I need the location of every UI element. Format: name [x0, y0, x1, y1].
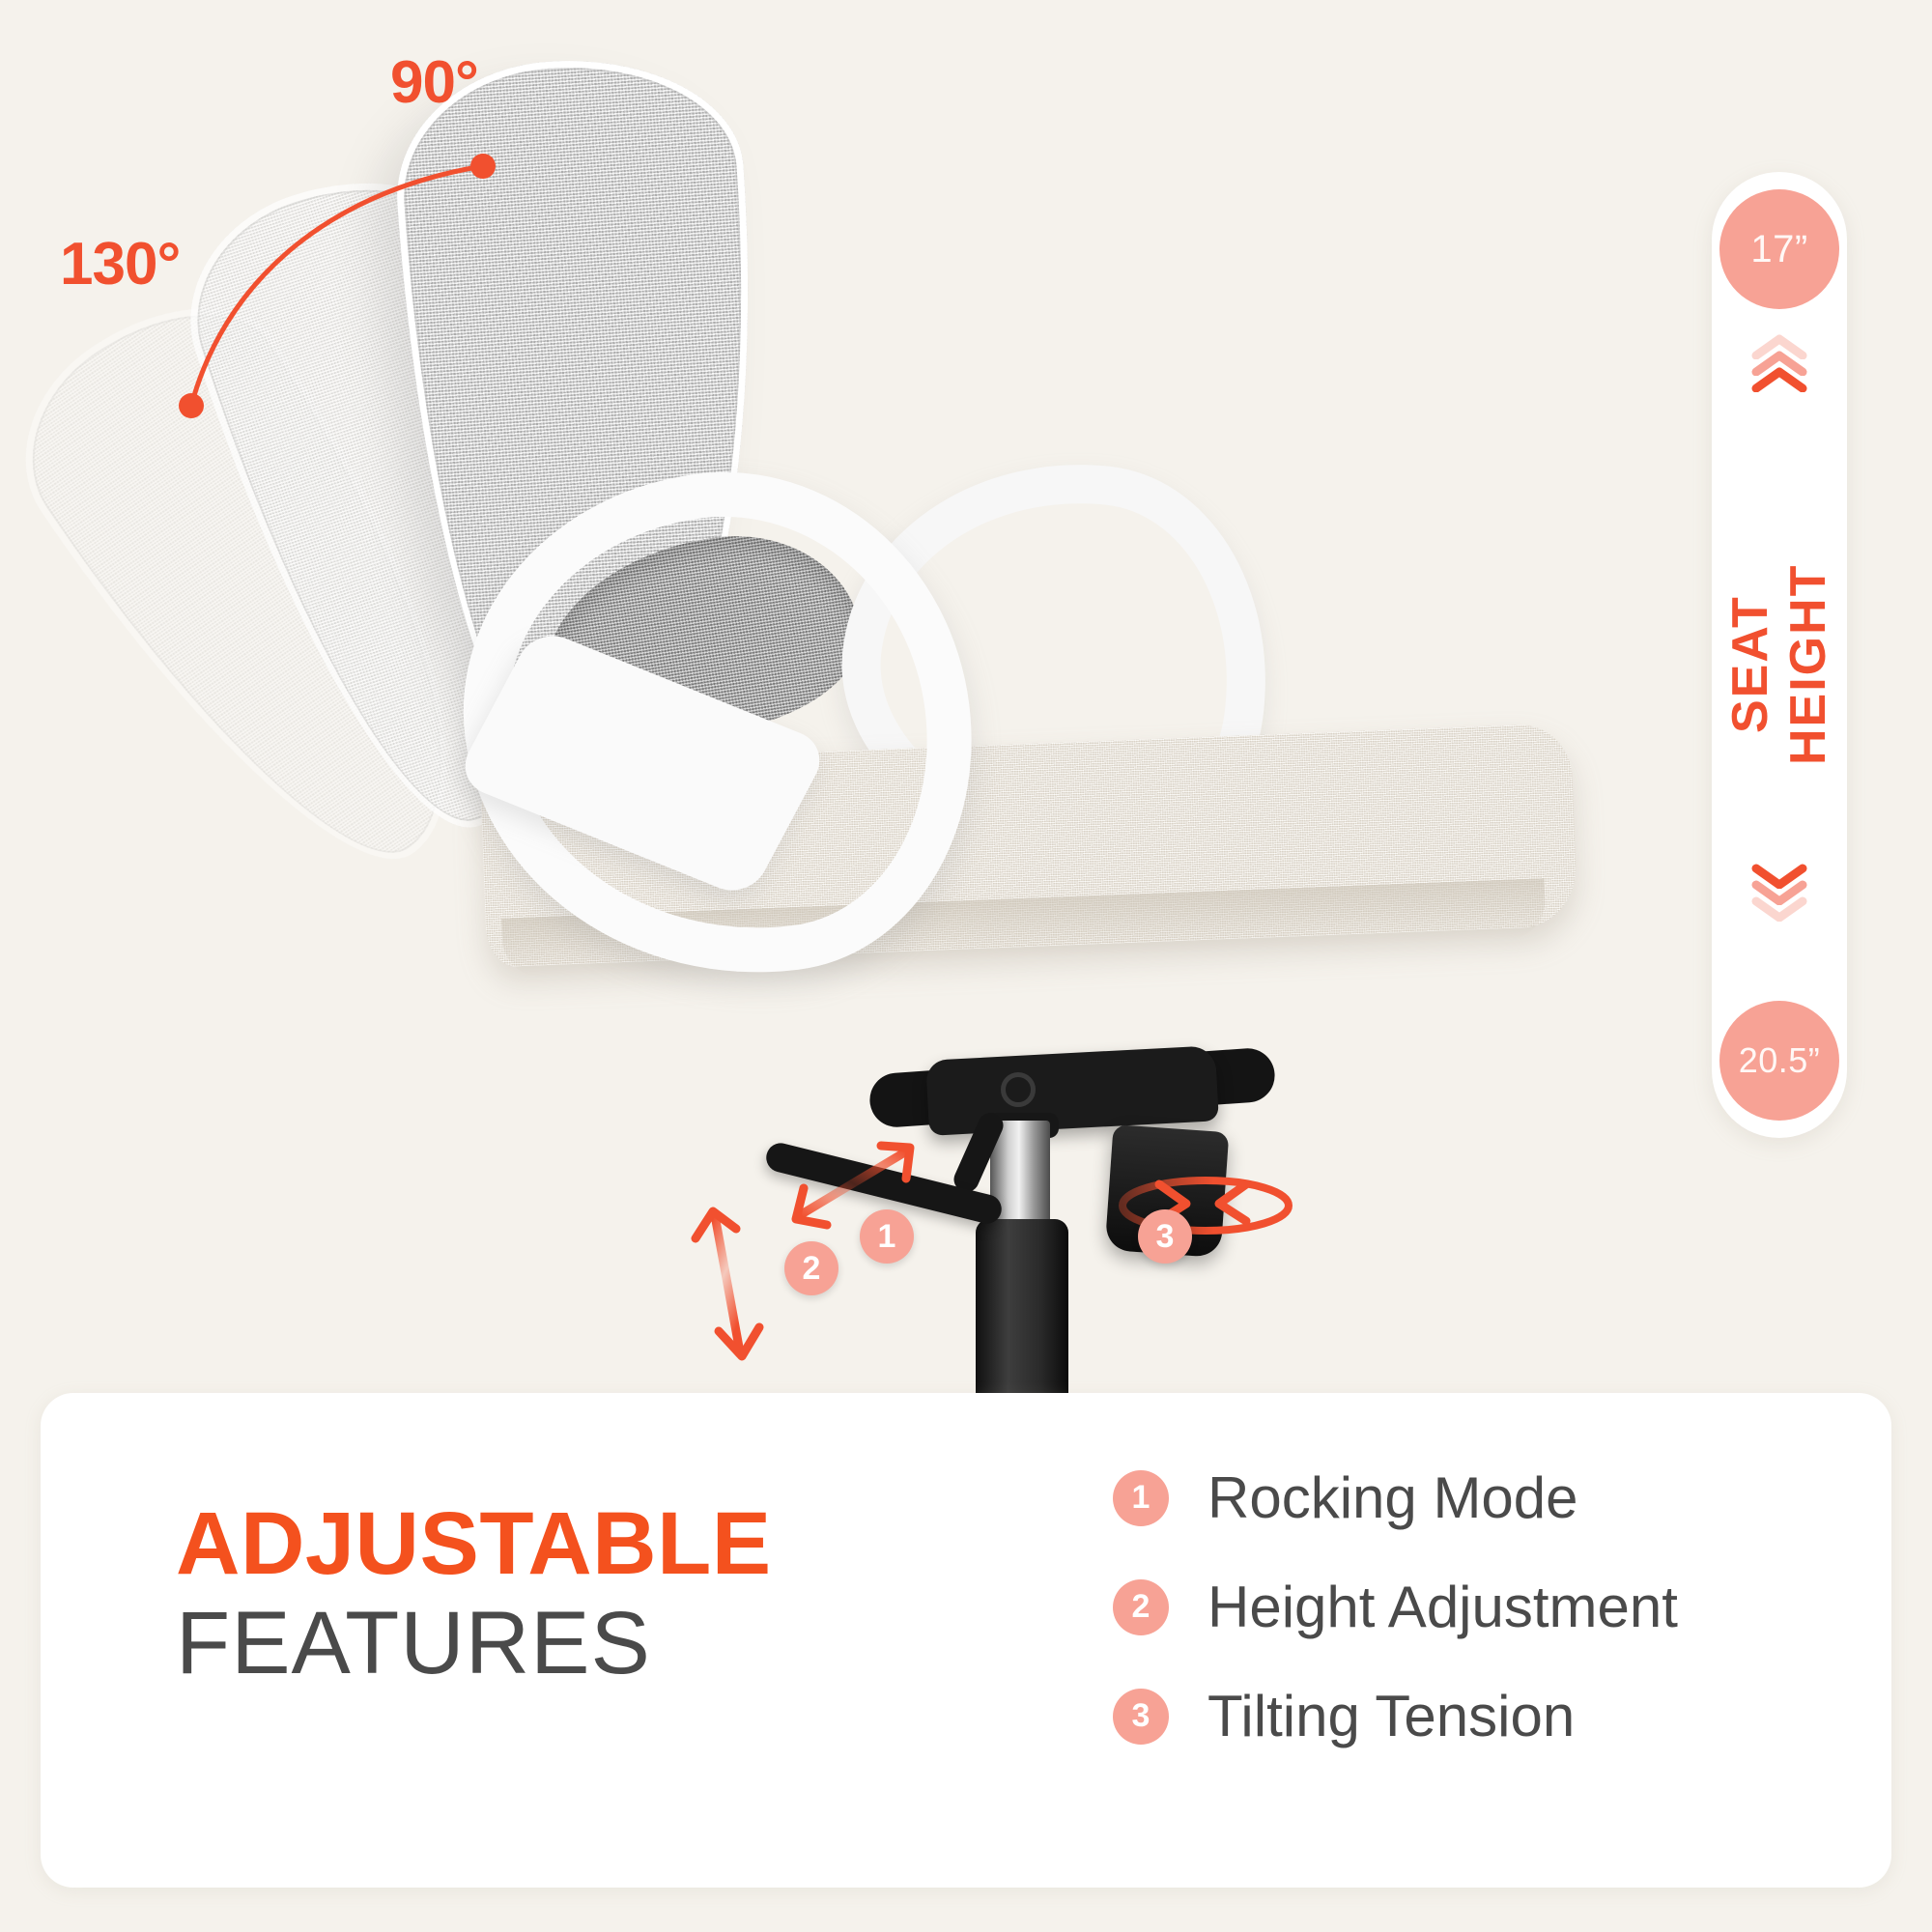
seat-height-panel: 17” SEAT HEIGHT: [1712, 172, 1847, 1138]
feature-number-1: 1: [1113, 1470, 1169, 1526]
seat-height-max-bubble: 20.5”: [1719, 1001, 1839, 1121]
callout-marker-3: 3: [1138, 1209, 1192, 1264]
infographic-stage: 90° 130°: [0, 0, 1932, 1932]
feature-label-3: Tilting Tension: [1207, 1683, 1575, 1749]
feature-list: 1 Rocking Mode 2 Height Adjustment 3 Til…: [1113, 1464, 1828, 1792]
headline-line-1: ADJUSTABLE: [176, 1499, 772, 1588]
angle-label-130: 130°: [60, 230, 180, 298]
callout-marker-2: 2: [784, 1241, 838, 1295]
adjustment-arrows: [676, 1092, 1294, 1439]
angle-label-90: 90°: [390, 48, 478, 117]
feature-label-2: Height Adjustment: [1207, 1574, 1678, 1640]
feature-number-3: 3: [1113, 1689, 1169, 1745]
seat-height-min-bubble: 17”: [1719, 189, 1839, 309]
feature-item-3: 3 Tilting Tension: [1113, 1683, 1828, 1749]
feature-item-2: 2 Height Adjustment: [1113, 1574, 1828, 1640]
seat-height-title: SEAT HEIGHT: [1712, 491, 1847, 838]
headline-block: ADJUSTABLE FEATURES: [176, 1499, 772, 1693]
chevron-down-icon-stack: [1750, 864, 1808, 913]
callout-marker-1: 1: [860, 1209, 914, 1264]
feature-label-1: Rocking Mode: [1207, 1464, 1578, 1531]
feature-number-2: 2: [1113, 1579, 1169, 1635]
feature-item-1: 1 Rocking Mode: [1113, 1464, 1828, 1531]
features-card: ADJUSTABLE FEATURES 1 Rocking Mode 2 Hei…: [41, 1393, 1891, 1888]
height-arrow: [696, 1211, 759, 1356]
chevron-up-icon-stack: [1750, 334, 1808, 384]
headline-line-2: FEATURES: [176, 1594, 772, 1693]
